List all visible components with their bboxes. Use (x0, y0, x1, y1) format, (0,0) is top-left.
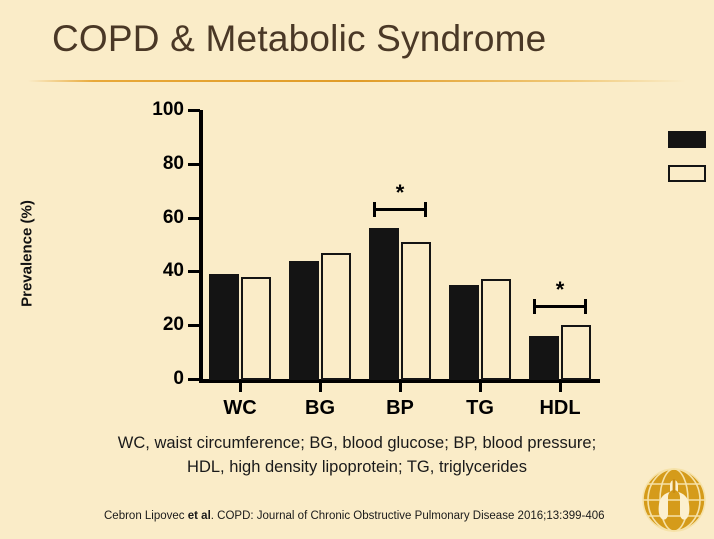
significance-bracket-hdl-line (533, 305, 587, 308)
significance-bracket-hdl-symbol: * (556, 279, 565, 301)
y-tick-100 (188, 109, 200, 112)
citation-etal: et al (188, 510, 211, 522)
bar-tg-copd (449, 285, 479, 380)
bar-bp-controls (401, 242, 431, 380)
y-tick-40 (188, 270, 200, 273)
bar-tg-controls (481, 279, 511, 380)
title-divider (28, 80, 686, 82)
x-tick-wc (239, 381, 242, 392)
y-tick-20 (188, 324, 200, 327)
significance-bracket-hdl: * (533, 299, 587, 314)
y-tick-label-0: 0 (173, 368, 184, 390)
significance-bracket-bp-capR (424, 202, 427, 217)
bar-wc-copd (209, 274, 239, 380)
legend-swatch-copd (668, 131, 706, 148)
legend-item-controls: Controls (668, 159, 714, 187)
citation: Cebron Lipovec et al. COPD: Journal of C… (104, 510, 605, 522)
chart-legend: COPD Controls (668, 125, 714, 193)
y-tick-label-80: 80 (163, 153, 184, 175)
significance-bracket-bp: * (373, 202, 427, 217)
x-tick-label-bp: BP (386, 397, 414, 420)
y-tick-60 (188, 217, 200, 220)
bar-hdl-copd (529, 336, 559, 380)
citation-source: . COPD: Journal of Chronic Obstructive P… (211, 510, 605, 522)
y-tick-label-100: 100 (152, 99, 184, 121)
page-title: COPD & Metabolic Syndrome (52, 18, 546, 60)
x-tick-label-bg: BG (305, 397, 335, 420)
caption-line-1: WC, waist circumference; BG, blood gluco… (0, 432, 714, 456)
bar-chart: Prevalence (%) 020406080100 WCBGBPTGHDL … (0, 95, 714, 420)
y-tick-label-20: 20 (163, 314, 184, 336)
legend-swatch-controls (668, 165, 706, 182)
slide: COPD & Metabolic Syndrome Prevalence (%)… (0, 0, 714, 535)
globe-lungs-logo (640, 466, 708, 534)
y-tick-0 (188, 378, 200, 381)
x-tick-bp (399, 381, 402, 392)
legend-item-copd: COPD (668, 125, 714, 153)
y-tick-label-60: 60 (163, 207, 184, 229)
bar-bg-copd (289, 261, 319, 380)
x-tick-label-hdl: HDL (539, 397, 580, 420)
plot-area: 020406080100 WCBGBPTGHDL ** COPD Control… (200, 110, 600, 379)
bar-bg-controls (321, 253, 351, 380)
y-tick-label-40: 40 (163, 260, 184, 282)
x-tick-tg (479, 381, 482, 392)
citation-authors: Cebron Lipovec (104, 510, 188, 522)
bar-hdl-controls (561, 325, 591, 380)
y-tick-80 (188, 163, 200, 166)
x-tick-label-tg: TG (466, 397, 494, 420)
bar-wc-controls (241, 277, 271, 380)
x-tick-bg (319, 381, 322, 392)
significance-bracket-bp-line (373, 208, 427, 211)
caption-line-2: HDL, high density lipoprotein; TG, trigl… (0, 456, 714, 480)
y-axis-label: Prevalence (%) (19, 169, 36, 339)
y-axis-line (199, 110, 203, 380)
x-tick-label-wc: WC (223, 397, 256, 420)
significance-bracket-bp-symbol: * (396, 182, 405, 204)
bar-bp-copd (369, 228, 399, 380)
figure-caption: WC, waist circumference; BG, blood gluco… (0, 432, 714, 480)
significance-bracket-hdl-capR (584, 299, 587, 314)
x-tick-hdl (559, 381, 562, 392)
